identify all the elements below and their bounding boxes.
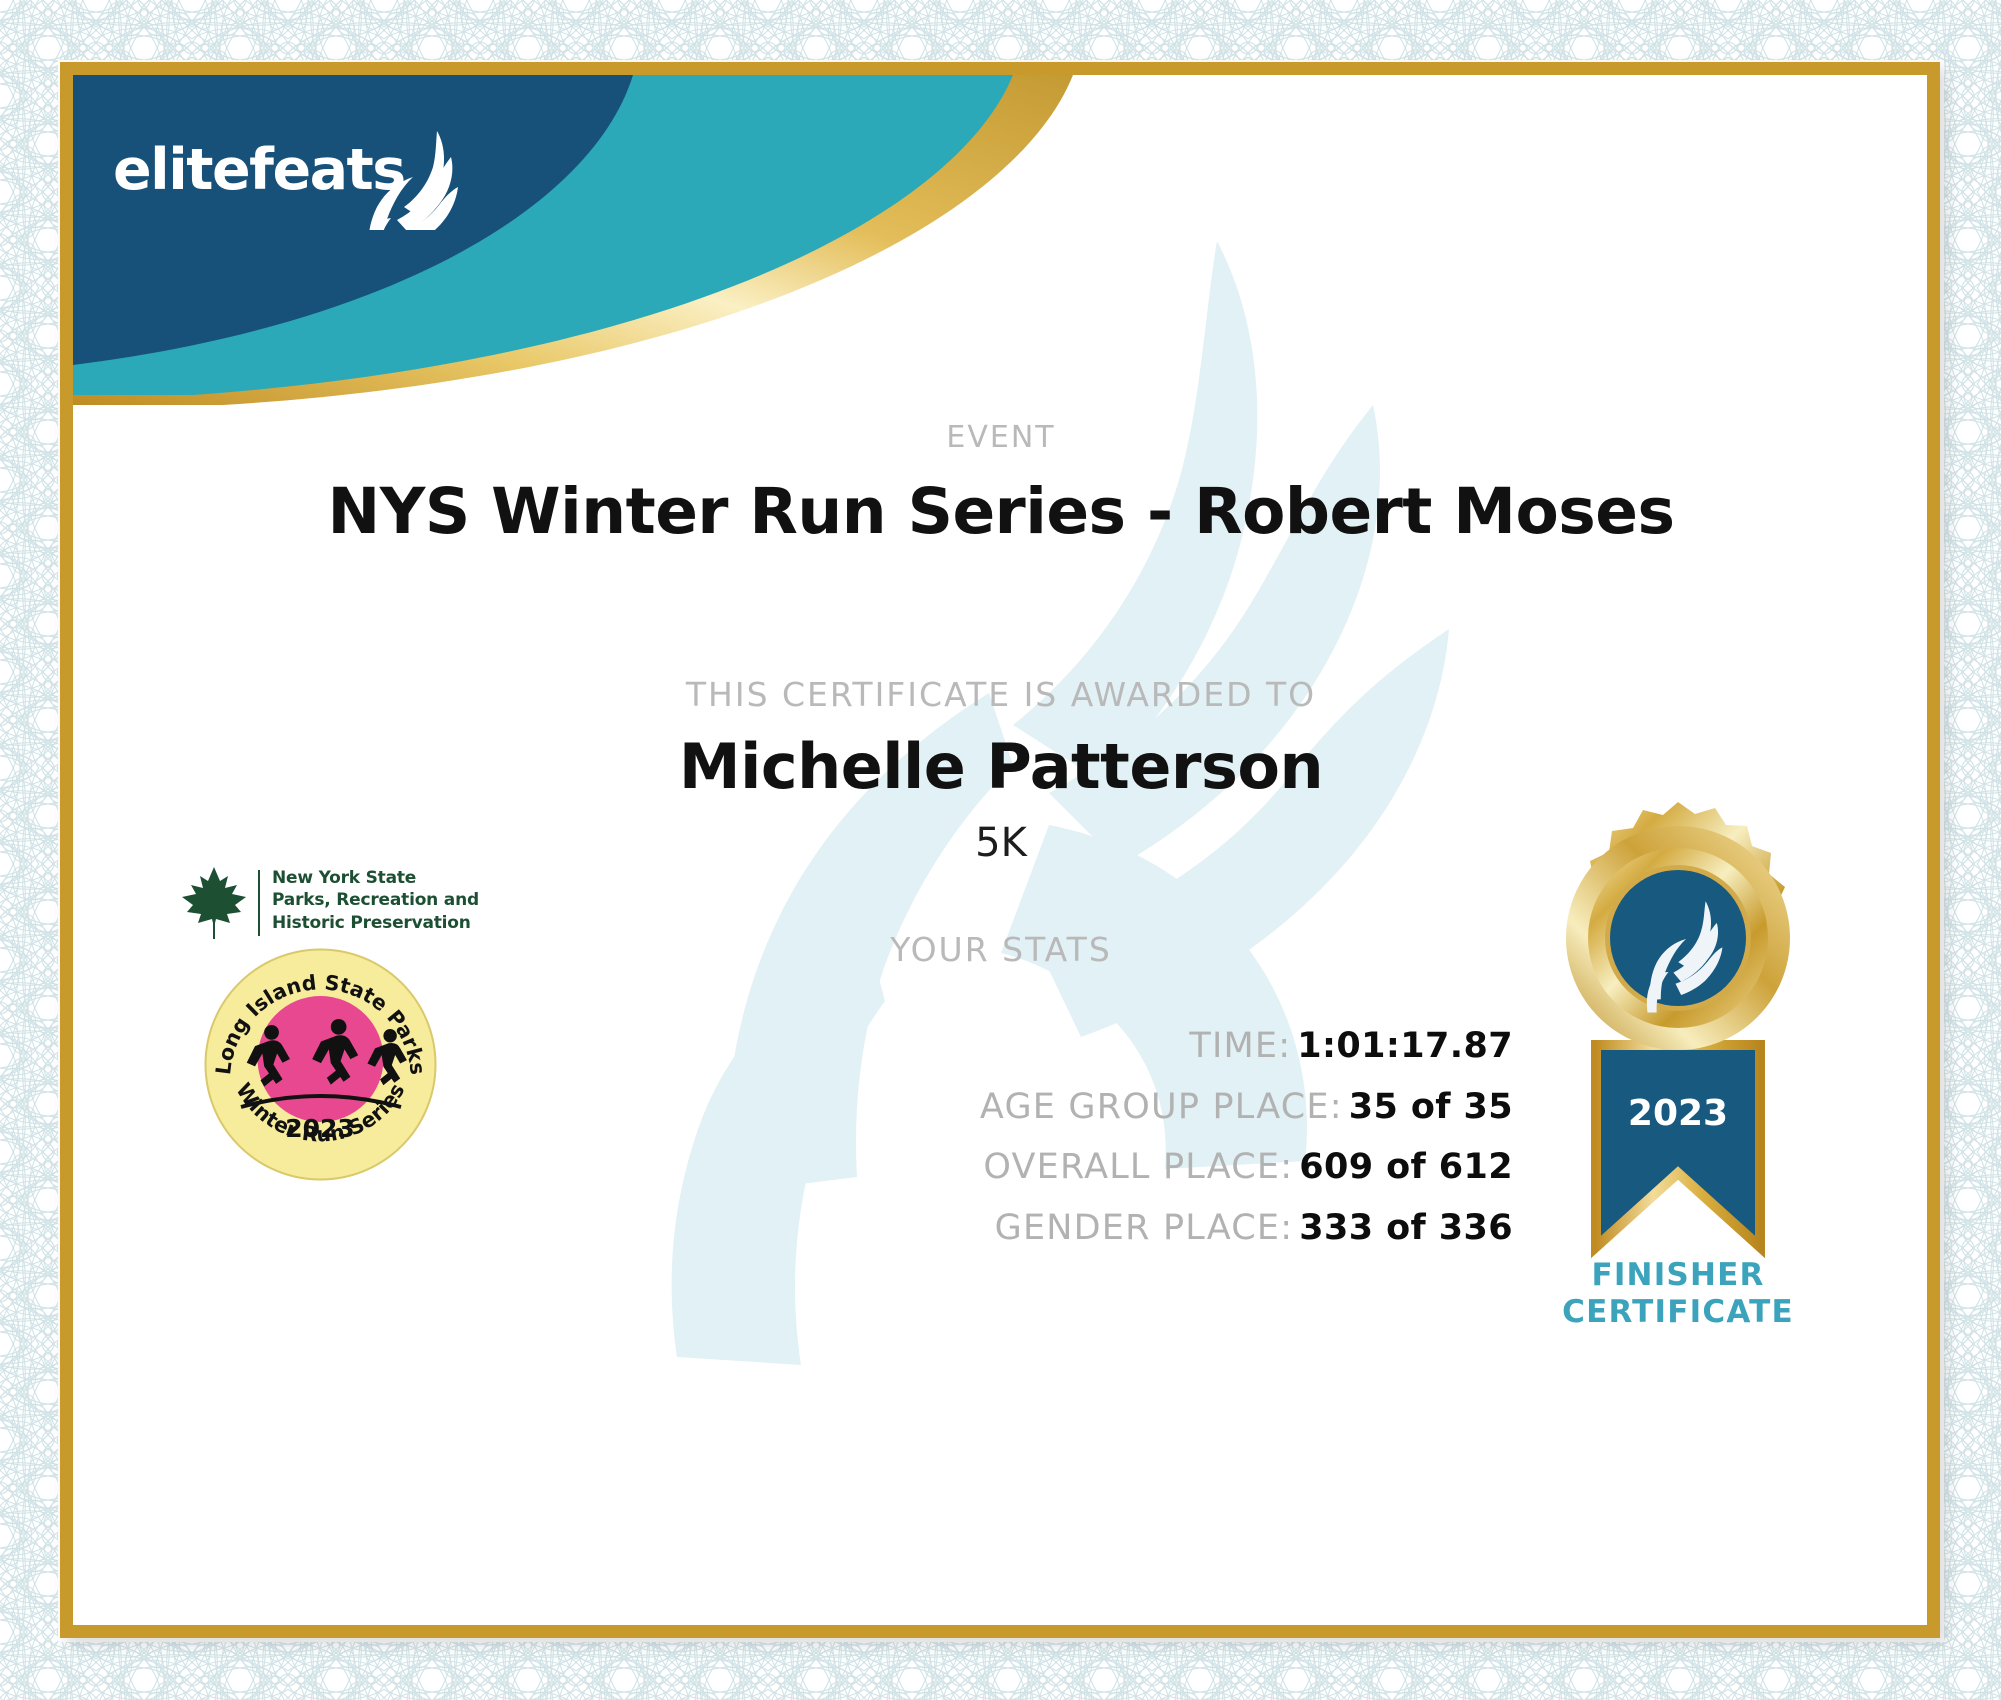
agency-line-3: Historic Preservation [272, 912, 479, 934]
header-swoosh-art [73, 75, 1927, 405]
finisher-caption: FINISHER CERTIFICATE [1503, 1257, 1853, 1330]
stat-value: 1:01:17.87 [1297, 1026, 1513, 1066]
finisher-medal: 2023 [1513, 795, 1843, 1275]
event-label: EVENT [73, 420, 1927, 455]
stat-key: TIME: [1189, 1026, 1291, 1066]
awarded-to-label: THIS CERTIFICATE IS AWARDED TO [73, 675, 1927, 714]
maple-leaf-icon [178, 865, 250, 941]
certificate-body: elitefeats EVENT NYS Winter Run Series -… [73, 75, 1927, 1625]
winged-foot-icon [361, 125, 461, 230]
stat-key: OVERALL PLACE: [983, 1147, 1293, 1187]
elitefeats-logo: elitefeats [113, 127, 473, 237]
finisher-caption-line-2: CERTIFICATE [1503, 1294, 1853, 1331]
stat-row-gender-place: GENDER PLACE:333 of 336 [73, 1207, 1513, 1250]
recipient-name: Michelle Patterson [73, 730, 1927, 803]
stat-value: 35 of 35 [1349, 1087, 1513, 1127]
stat-value: 333 of 336 [1299, 1208, 1513, 1248]
winter-run-series-badge: 2023 Long Island State Parks Winter Run … [203, 947, 438, 1182]
ribbon-year: 2023 [1628, 1093, 1728, 1134]
nys-parks-logo: New York State Parks, Recreation and His… [178, 865, 498, 945]
stat-key: AGE GROUP PLACE: [980, 1087, 1343, 1127]
nys-parks-agency-name: New York State Parks, Recreation and His… [272, 867, 479, 934]
medal-ribbon [1596, 1045, 1760, 1247]
agency-line-2: Parks, Recreation and [272, 889, 479, 911]
stat-value: 609 of 612 [1299, 1147, 1513, 1187]
certificate-frame: elitefeats EVENT NYS Winter Run Series -… [60, 62, 1940, 1638]
agency-line-1: New York State [272, 867, 479, 889]
certificate-page: elitefeats EVENT NYS Winter Run Series -… [0, 0, 2001, 1700]
stat-key: GENDER PLACE: [995, 1208, 1294, 1248]
event-title: NYS Winter Run Series - Robert Moses [73, 475, 1927, 548]
logo-divider [258, 870, 260, 936]
finisher-caption-line-1: FINISHER [1503, 1257, 1853, 1294]
